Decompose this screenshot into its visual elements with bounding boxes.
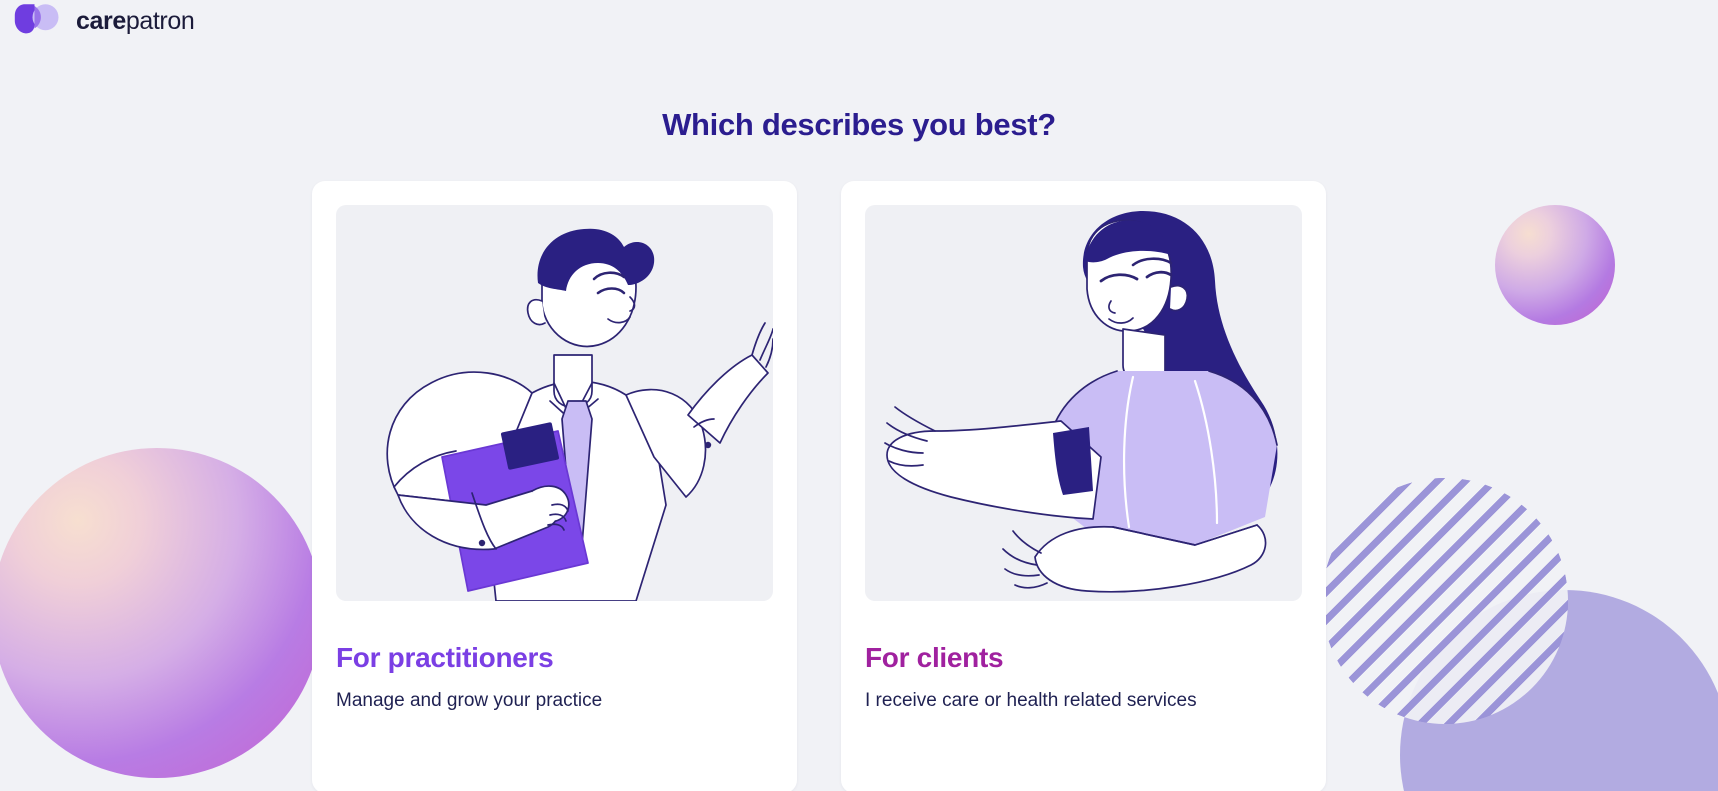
card-title-clients: For clients bbox=[865, 643, 1302, 674]
card-subtitle-clients: I receive care or health related service… bbox=[865, 689, 1302, 714]
carepatron-logo-mark-icon bbox=[14, 3, 66, 39]
purple-circle-bottom-right-icon bbox=[1400, 590, 1718, 791]
card-title-practitioners: For practitioners bbox=[336, 643, 773, 674]
gradient-circle-top-right-icon bbox=[1495, 205, 1615, 325]
brand-logo[interactable]: carepatron bbox=[14, 3, 194, 39]
card-clients[interactable]: For clients I receive care or health rel… bbox=[841, 181, 1326, 791]
client-illustration-icon bbox=[865, 205, 1302, 601]
card-subtitle-practitioners: Manage and grow your practice bbox=[336, 689, 773, 714]
practitioner-illustration-icon bbox=[336, 205, 773, 601]
practitioner-illustration bbox=[336, 205, 773, 601]
brand-name-light: patron bbox=[126, 7, 195, 35]
striped-circle-overlay-icon bbox=[1322, 478, 1568, 724]
card-practitioners[interactable]: For practitioners Manage and grow your p… bbox=[312, 181, 797, 791]
brand-wordmark: carepatron bbox=[76, 7, 194, 36]
page-title: Which describes you best? bbox=[0, 107, 1718, 143]
role-selection-cards: For practitioners Manage and grow your p… bbox=[312, 181, 1326, 791]
client-illustration bbox=[865, 205, 1302, 601]
striped-circle-right-icon bbox=[1322, 478, 1568, 724]
brand-name-bold: care bbox=[76, 7, 126, 35]
gradient-circle-left-icon bbox=[0, 448, 322, 778]
